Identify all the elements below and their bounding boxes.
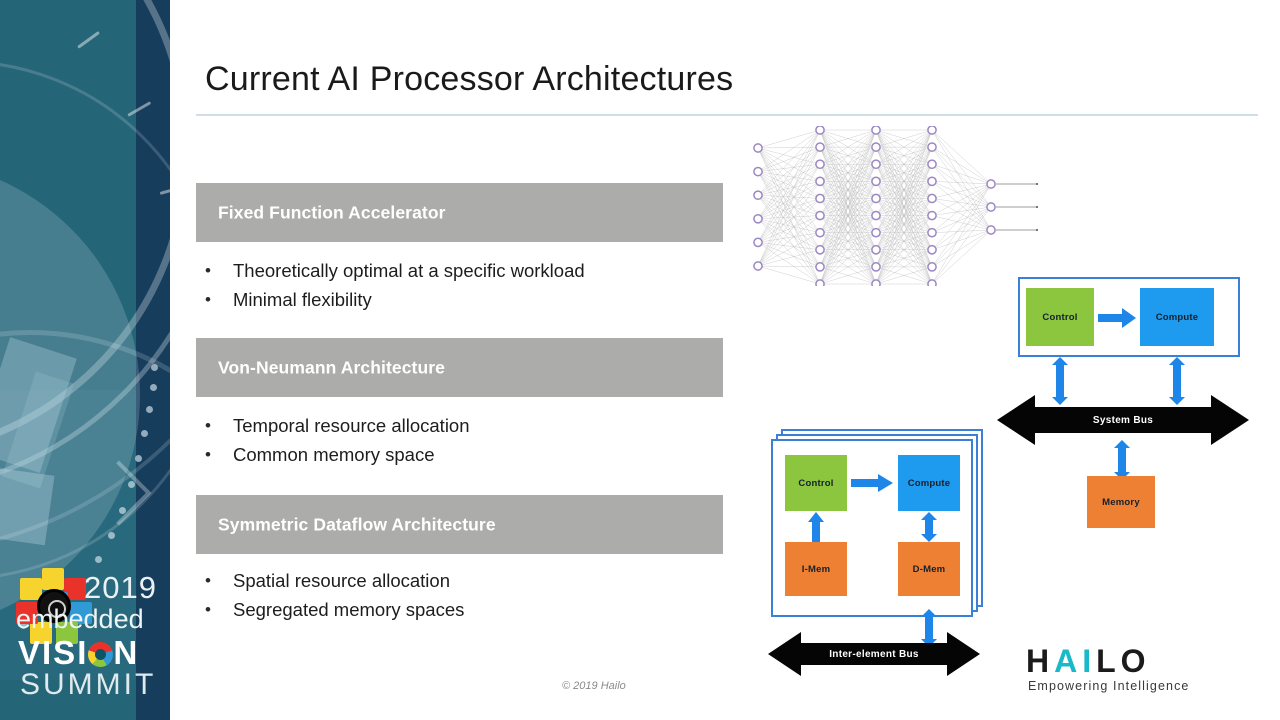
nn-node	[872, 143, 880, 151]
rail-dot	[128, 481, 135, 488]
section-bullets-symmetric-dataflow: • Spatial resource allocation • Segregat…	[205, 566, 464, 624]
rail-dot	[146, 406, 153, 413]
list-item-label: Theoretically optimal at a specific work…	[233, 256, 585, 285]
summit-vision-o-icon	[88, 642, 113, 667]
nn-node	[928, 263, 936, 271]
dataflow-compute-block: Compute	[898, 455, 960, 511]
list-item: • Spatial resource allocation	[205, 566, 464, 595]
nn-node	[928, 126, 936, 134]
compute-block-label: Compute	[1156, 312, 1199, 323]
section-header-symmetric-dataflow: Symmetric Dataflow Architecture	[196, 495, 723, 554]
summit-word: SUMMIT	[20, 668, 156, 702]
nn-node	[987, 180, 995, 188]
neural-network-svg	[748, 126, 1048, 286]
system-bus-label: System Bus	[1093, 415, 1153, 426]
control-to-compute-arrow-icon	[1098, 308, 1138, 328]
hailo-tagline: Empowering Intelligence	[1028, 679, 1190, 693]
hailo-logo: HAILO Empowering Intelligence	[1026, 644, 1206, 694]
nn-node	[816, 194, 824, 202]
list-item: • Temporal resource allocation	[205, 411, 470, 440]
nn-node	[816, 160, 824, 168]
nn-node	[816, 211, 824, 219]
nn-node	[872, 194, 880, 202]
nn-node	[928, 160, 936, 168]
nn-node	[872, 177, 880, 185]
section-header-von-neumann: Von-Neumann Architecture	[196, 338, 723, 397]
nn-node	[754, 144, 762, 152]
compute-dmem-link-arrow-icon	[919, 512, 939, 542]
imem-to-control-arrow-icon	[806, 512, 826, 542]
dataflow-dmem-block: D-Mem	[898, 542, 960, 596]
nn-edges	[758, 130, 1038, 284]
section-header-label: Von-Neumann Architecture	[218, 357, 445, 378]
hailo-letter-a: A	[1054, 643, 1082, 679]
memory-block-label: Memory	[1102, 497, 1140, 508]
nn-node	[816, 177, 824, 185]
bullet-glyph: •	[205, 256, 233, 285]
section-header-label: Fixed Function Accelerator	[218, 202, 446, 223]
nn-node	[928, 246, 936, 254]
memory-bus-link-arrow-icon	[1112, 440, 1132, 480]
inter-element-bus-label: Inter-element Bus	[829, 649, 919, 660]
memory-block: Memory	[1087, 476, 1155, 528]
nn-node	[816, 246, 824, 254]
rail-dot	[108, 532, 115, 539]
section-bullets-fixed-function: • Theoretically optimal at a specific wo…	[205, 256, 585, 314]
dataflow-control-block-label: Control	[798, 478, 833, 489]
nn-node	[754, 262, 762, 270]
nn-node	[754, 168, 762, 176]
dataflow-control-block: Control	[785, 455, 847, 511]
hailo-letter-h: H	[1026, 643, 1054, 679]
nn-node	[816, 229, 824, 237]
nn-node	[754, 191, 762, 199]
nn-node	[987, 203, 995, 211]
dataflow-control-to-compute-arrow-icon	[851, 474, 895, 492]
summit-vision-pre: VISI	[18, 634, 88, 671]
list-item-label: Temporal resource allocation	[233, 411, 470, 440]
nn-node	[928, 229, 936, 237]
title-divider	[196, 114, 1258, 116]
rail-dot	[141, 430, 148, 437]
nn-node	[872, 263, 880, 271]
slide-canvas: 2019 embedded VISIN SUMMIT Current AI Pr…	[0, 0, 1280, 720]
nn-node	[987, 226, 995, 234]
rail-dot	[150, 384, 157, 391]
hailo-letter-l: L	[1096, 643, 1121, 679]
inter-element-bus: Inter-element Bus	[768, 630, 980, 678]
rail-sliver-3	[0, 465, 54, 545]
nn-node	[816, 263, 824, 271]
nn-node	[928, 194, 936, 202]
bullet-glyph: •	[205, 595, 233, 624]
section-bullets-von-neumann: • Temporal resource allocation • Common …	[205, 411, 470, 469]
dataflow-compute-block-label: Compute	[908, 478, 951, 489]
nn-node	[872, 126, 880, 134]
bullet-glyph: •	[205, 440, 233, 469]
nn-node	[928, 143, 936, 151]
neural-network-diagram	[748, 126, 1048, 286]
nn-node	[754, 238, 762, 246]
nn-node	[754, 215, 762, 223]
rail-dot	[151, 364, 158, 371]
summit-embedded: embedded	[16, 604, 144, 635]
list-item: • Common memory space	[205, 440, 470, 469]
nn-node	[872, 246, 880, 254]
summit-year: 2019	[84, 570, 157, 606]
copyright-notice: © 2019 Hailo	[562, 680, 626, 692]
nn-node	[872, 229, 880, 237]
section-header-label: Symmetric Dataflow Architecture	[218, 514, 496, 535]
control-block-label: Control	[1042, 312, 1077, 323]
list-item: • Theoretically optimal at a specific wo…	[205, 256, 585, 285]
control-block: Control	[1026, 288, 1094, 346]
nn-node	[928, 211, 936, 219]
nn-node	[816, 126, 824, 134]
dataflow-dmem-block-label: D-Mem	[913, 564, 946, 575]
nn-node	[872, 211, 880, 219]
rail-dot	[119, 507, 126, 514]
section-header-fixed-function: Fixed Function Accelerator	[196, 183, 723, 242]
bullet-glyph: •	[205, 285, 233, 314]
list-item-label: Segregated memory spaces	[233, 595, 464, 624]
system-bus: System Bus	[997, 393, 1249, 447]
summit-vision: VISIN	[18, 634, 139, 672]
hailo-wordmark: HAILO	[1026, 644, 1151, 678]
page-title: Current AI Processor Architectures	[205, 60, 733, 99]
embedded-vision-summit-logo: 2019 embedded VISIN SUMMIT	[8, 562, 168, 712]
hailo-letter-o: O	[1121, 643, 1151, 679]
list-item: • Segregated memory spaces	[205, 595, 464, 624]
dataflow-imem-block-label: I-Mem	[802, 564, 830, 575]
dataflow-imem-block: I-Mem	[785, 542, 847, 596]
hailo-letter-i: I	[1082, 643, 1096, 679]
nn-node	[872, 160, 880, 168]
summit-vision-post: N	[113, 634, 139, 671]
bullet-glyph: •	[205, 411, 233, 440]
bullet-glyph: •	[205, 566, 233, 595]
compute-block: Compute	[1140, 288, 1214, 346]
nn-node	[816, 143, 824, 151]
list-item: • Minimal flexibility	[205, 285, 585, 314]
nn-node	[816, 280, 824, 286]
nn-node	[872, 280, 880, 286]
list-item-label: Spatial resource allocation	[233, 566, 450, 595]
list-item-label: Common memory space	[233, 440, 435, 469]
nn-node	[928, 280, 936, 286]
list-item-label: Minimal flexibility	[233, 285, 372, 314]
nn-node	[928, 177, 936, 185]
decorative-left-rail: 2019 embedded VISIN SUMMIT	[0, 0, 170, 720]
rail-dot	[135, 455, 142, 462]
